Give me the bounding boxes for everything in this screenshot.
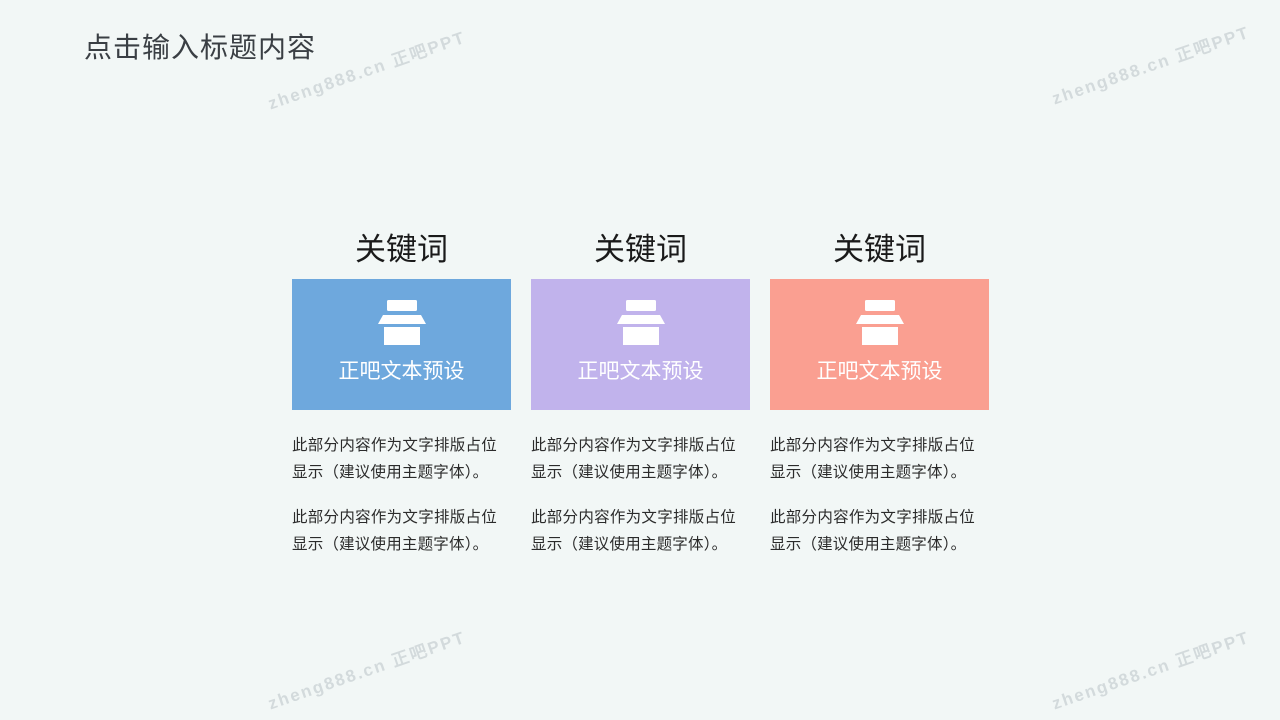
body-paragraph: 此部分内容作为文字排版占位显示（建议使用主题字体）。: [531, 504, 736, 558]
feature-card-label: 正吧文本预设: [817, 356, 943, 386]
content-columns: 关键词 正吧文本预设 此部分内容作为文字排版占位显示（建议使用主题字体）。 此部…: [292, 220, 988, 558]
column-body-text-3: 此部分内容作为文字排版占位显示（建议使用主题字体）。 此部分内容作为文字排版占位…: [770, 432, 989, 558]
body-paragraph: 此部分内容作为文字排版占位显示（建议使用主题字体）。: [292, 504, 497, 558]
content-column-1: 关键词 正吧文本预设 此部分内容作为文字排版占位显示（建议使用主题字体）。 此部…: [292, 220, 511, 558]
column-keyword-heading: 关键词: [770, 220, 989, 279]
page-title: 点击输入标题内容: [84, 28, 316, 68]
column-keyword-heading: 关键词: [292, 220, 511, 279]
content-column-2: 关键词 正吧文本预设 此部分内容作为文字排版占位显示（建议使用主题字体）。 此部…: [531, 220, 750, 558]
feature-card-1[interactable]: 正吧文本预设: [292, 279, 511, 410]
body-paragraph: 此部分内容作为文字排版占位显示（建议使用主题字体）。: [531, 432, 736, 486]
storefront-icon: [375, 296, 429, 350]
watermark: zheng888.cn 正吧PPT: [1048, 623, 1253, 714]
feature-card-3[interactable]: 正吧文本预设: [770, 279, 989, 410]
feature-card-2[interactable]: 正吧文本预设: [531, 279, 750, 410]
watermark: zheng888.cn 正吧PPT: [264, 623, 469, 714]
feature-card-label: 正吧文本预设: [578, 356, 704, 386]
slide-canvas: 点击输入标题内容 关键词 正吧文本预设 此部分内容作为文字排版占位显示（建议使用…: [0, 0, 1280, 720]
column-keyword-heading: 关键词: [531, 220, 750, 279]
column-body-text-2: 此部分内容作为文字排版占位显示（建议使用主题字体）。 此部分内容作为文字排版占位…: [531, 432, 750, 558]
storefront-icon: [853, 296, 907, 350]
content-column-3: 关键词 正吧文本预设 此部分内容作为文字排版占位显示（建议使用主题字体）。 此部…: [770, 220, 989, 558]
body-paragraph: 此部分内容作为文字排版占位显示（建议使用主题字体）。: [770, 432, 975, 486]
storefront-icon: [614, 296, 668, 350]
column-body-text-1: 此部分内容作为文字排版占位显示（建议使用主题字体）。 此部分内容作为文字排版占位…: [292, 432, 511, 558]
body-paragraph: 此部分内容作为文字排版占位显示（建议使用主题字体）。: [292, 432, 497, 486]
watermark: zheng888.cn 正吧PPT: [1048, 18, 1253, 109]
body-paragraph: 此部分内容作为文字排版占位显示（建议使用主题字体）。: [770, 504, 975, 558]
feature-card-label: 正吧文本预设: [339, 356, 465, 386]
